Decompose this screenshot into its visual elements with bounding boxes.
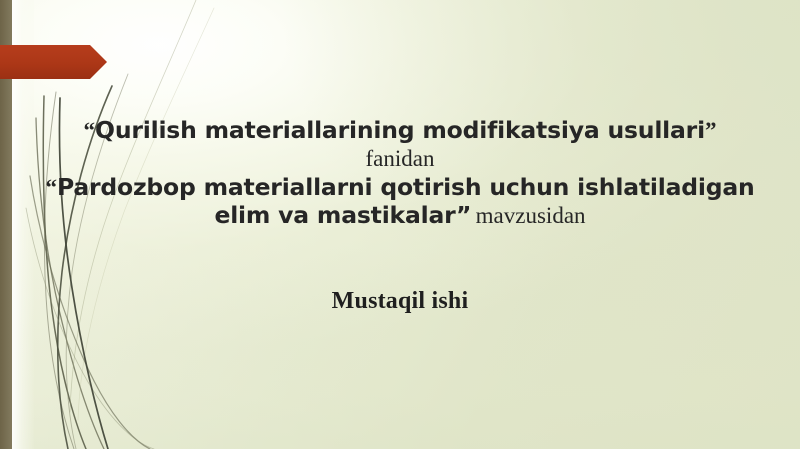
title-line-4: elim va mastikalar” mavzusidan bbox=[18, 203, 782, 228]
slide-text-block: “Qurilish materiallarining modifikatsiya… bbox=[0, 0, 800, 449]
slide-subtitle: Mustaqil ishi bbox=[18, 288, 782, 315]
title-line-3-open-quote: “ bbox=[45, 175, 57, 200]
title-line-2: fanidan bbox=[18, 147, 782, 171]
title-line-4-bold-text: elim va mastikalar” bbox=[214, 201, 471, 229]
title-line-1-text: Qurilish materiallarining modifikatsiya … bbox=[95, 116, 705, 144]
slide-title: “Qurilish materiallarining modifikatsiya… bbox=[18, 118, 782, 229]
title-line-2-text: fanidan bbox=[366, 146, 435, 171]
title-line-3-text: Pardozbop materiallarni qotirish uchun i… bbox=[57, 173, 755, 201]
title-line-3: “Pardozbop materiallarni qotirish uchun … bbox=[18, 175, 782, 200]
title-line-1-close-quote: ” bbox=[705, 118, 717, 143]
title-line-4-serif-text: mavzusidan bbox=[476, 203, 586, 228]
title-line-1-open-quote: “ bbox=[84, 118, 96, 143]
presentation-slide: “Qurilish materiallarining modifikatsiya… bbox=[0, 0, 800, 449]
title-line-1: “Qurilish materiallarining modifikatsiya… bbox=[18, 118, 782, 143]
